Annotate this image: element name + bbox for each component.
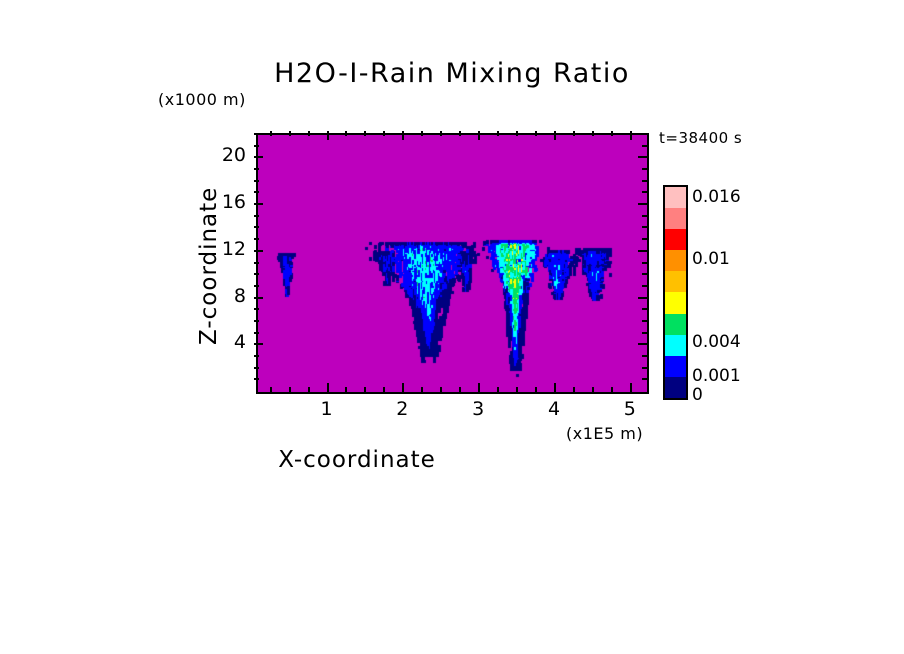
z-tick-right-10	[642, 273, 647, 275]
z-tick-right-3	[642, 355, 647, 357]
colorbar-band-1	[665, 208, 686, 229]
x-tick-4	[554, 383, 556, 392]
x-tick-top-4.25	[573, 131, 575, 136]
x-tick-label-3: 3	[458, 398, 498, 420]
z-tick-right-1	[642, 378, 647, 380]
z-tick-9	[254, 285, 259, 287]
x-tick-3	[478, 383, 480, 392]
colorbar-band-7	[665, 335, 686, 356]
plot-area	[256, 133, 649, 394]
x-tick-top-2	[402, 131, 404, 140]
z-tick-right-14	[642, 226, 647, 228]
x-tick-2.75	[459, 387, 461, 392]
x-tick-top-4	[554, 131, 556, 140]
x-tick-2.25	[421, 387, 423, 392]
z-tick-right-5	[642, 332, 647, 334]
x-axis-unit-label: (x1E5 m)	[566, 424, 643, 443]
y-axis-label-text: Z-coordinate	[196, 187, 222, 345]
x-tick-top-1.25	[345, 131, 347, 136]
z-tick-label-20: 20	[202, 144, 246, 166]
z-tick-14	[254, 226, 259, 228]
z-tick-right-18	[642, 180, 647, 182]
x-tick-label-2: 2	[382, 398, 422, 420]
x-tick-3.5	[516, 387, 518, 392]
x-tick-0.5	[289, 387, 291, 392]
colorbar-band-5	[665, 292, 686, 313]
colorbar-band-6	[665, 314, 686, 335]
z-tick-2	[254, 367, 259, 369]
z-tick-15	[254, 215, 259, 217]
x-tick-3.75	[535, 387, 537, 392]
z-tick-1	[254, 378, 259, 380]
z-tick-right-4	[638, 343, 647, 345]
x-tick-top-0.75	[308, 131, 310, 136]
x-tick-5	[630, 383, 632, 392]
z-tick-right-16	[638, 203, 647, 205]
x-tick-2.5	[440, 387, 442, 392]
x-tick-4.5	[592, 387, 594, 392]
x-tick-0.25	[270, 387, 272, 392]
rain-mixing-ratio-field	[258, 135, 647, 392]
colorbar-band-9	[665, 377, 686, 398]
z-tick-22	[254, 133, 259, 135]
colorbar-band-8	[665, 356, 686, 377]
figure-canvas: H2O-I-Rain Mixing Ratio (x1000 m) t=3840…	[0, 0, 904, 654]
colorbar-tick-label-1: 0.01	[692, 249, 730, 269]
x-tick-top-3	[478, 131, 480, 140]
z-tick-6	[254, 320, 259, 322]
x-tick-1.5	[364, 387, 366, 392]
z-tick-right-9	[642, 285, 647, 287]
z-tick-right-2	[642, 367, 647, 369]
x-tick-top-2.25	[421, 131, 423, 136]
x-tick-4.75	[611, 387, 613, 392]
colorbar-band-3	[665, 250, 686, 271]
z-tick-right-8	[638, 297, 647, 299]
z-tick-7	[254, 308, 259, 310]
z-tick-19	[254, 168, 259, 170]
chart-title: H2O-I-Rain Mixing Ratio	[0, 58, 904, 89]
z-tick-right-15	[642, 215, 647, 217]
x-tick-4.25	[573, 387, 575, 392]
x-tick-top-1.5	[364, 131, 366, 136]
x-axis-label: X-coordinate	[0, 447, 904, 473]
z-tick-20	[254, 156, 263, 158]
chart-title-text: H2O-I-Rain Mixing Ratio	[274, 58, 630, 89]
y-axis-unit-label: (x1000 m)	[158, 90, 246, 109]
x-tick-top-5	[630, 131, 632, 140]
z-tick-right-21	[642, 145, 647, 147]
x-tick-top-2.75	[459, 131, 461, 136]
z-tick-4	[254, 343, 263, 345]
y-axis-label: Z-coordinate	[196, 187, 222, 345]
x-tick-top-3.75	[535, 131, 537, 136]
colorbar	[663, 185, 688, 400]
z-tick-right-17	[642, 191, 647, 193]
colorbar-band-0	[665, 187, 686, 208]
x-tick-1.75	[383, 387, 385, 392]
x-tick-0.75	[308, 387, 310, 392]
z-tick-13	[254, 238, 259, 240]
x-axis-label-text: X-coordinate	[278, 447, 626, 473]
z-tick-3	[254, 355, 259, 357]
x-tick-top-3.5	[516, 131, 518, 136]
x-tick-top-4.5	[592, 131, 594, 136]
x-tick-top-3.25	[497, 131, 499, 136]
x-tick-3.25	[497, 387, 499, 392]
z-tick-right-7	[642, 308, 647, 310]
z-tick-right-22	[642, 133, 647, 135]
time-annotation: t=38400 s	[659, 129, 742, 147]
x-tick-top-0.25	[270, 131, 272, 136]
colorbar-band-4	[665, 271, 686, 292]
x-tick-2	[402, 383, 404, 392]
z-tick-8	[254, 297, 263, 299]
x-tick-top-0.5	[289, 131, 291, 136]
colorbar-tick-label-0: 0.016	[692, 187, 741, 207]
z-tick-16	[254, 203, 263, 205]
x-tick-top-2.5	[440, 131, 442, 136]
x-tick-top-4.75	[611, 131, 613, 136]
z-tick-18	[254, 180, 259, 182]
x-tick-1.25	[345, 387, 347, 392]
z-tick-21	[254, 145, 259, 147]
z-tick-right-13	[642, 238, 647, 240]
colorbar-band-2	[665, 229, 686, 250]
x-tick-top-1	[327, 131, 329, 140]
z-tick-5	[254, 332, 259, 334]
colorbar-tick-label-4: 0	[692, 385, 703, 405]
z-tick-right-20	[638, 156, 647, 158]
z-tick-right-11	[642, 262, 647, 264]
colorbar-tick-label-3: 0.001	[692, 366, 741, 386]
z-tick-11	[254, 262, 259, 264]
colorbar-tick-label-2: 0.004	[692, 332, 741, 352]
z-tick-right-19	[642, 168, 647, 170]
z-tick-right-6	[642, 320, 647, 322]
z-tick-right-12	[638, 250, 647, 252]
x-tick-label-4: 4	[534, 398, 574, 420]
x-tick-label-1: 1	[307, 398, 347, 420]
z-tick-17	[254, 191, 259, 193]
x-tick-label-5: 5	[610, 398, 650, 420]
x-tick-1	[327, 383, 329, 392]
z-tick-10	[254, 273, 259, 275]
z-tick-12	[254, 250, 263, 252]
x-tick-top-1.75	[383, 131, 385, 136]
